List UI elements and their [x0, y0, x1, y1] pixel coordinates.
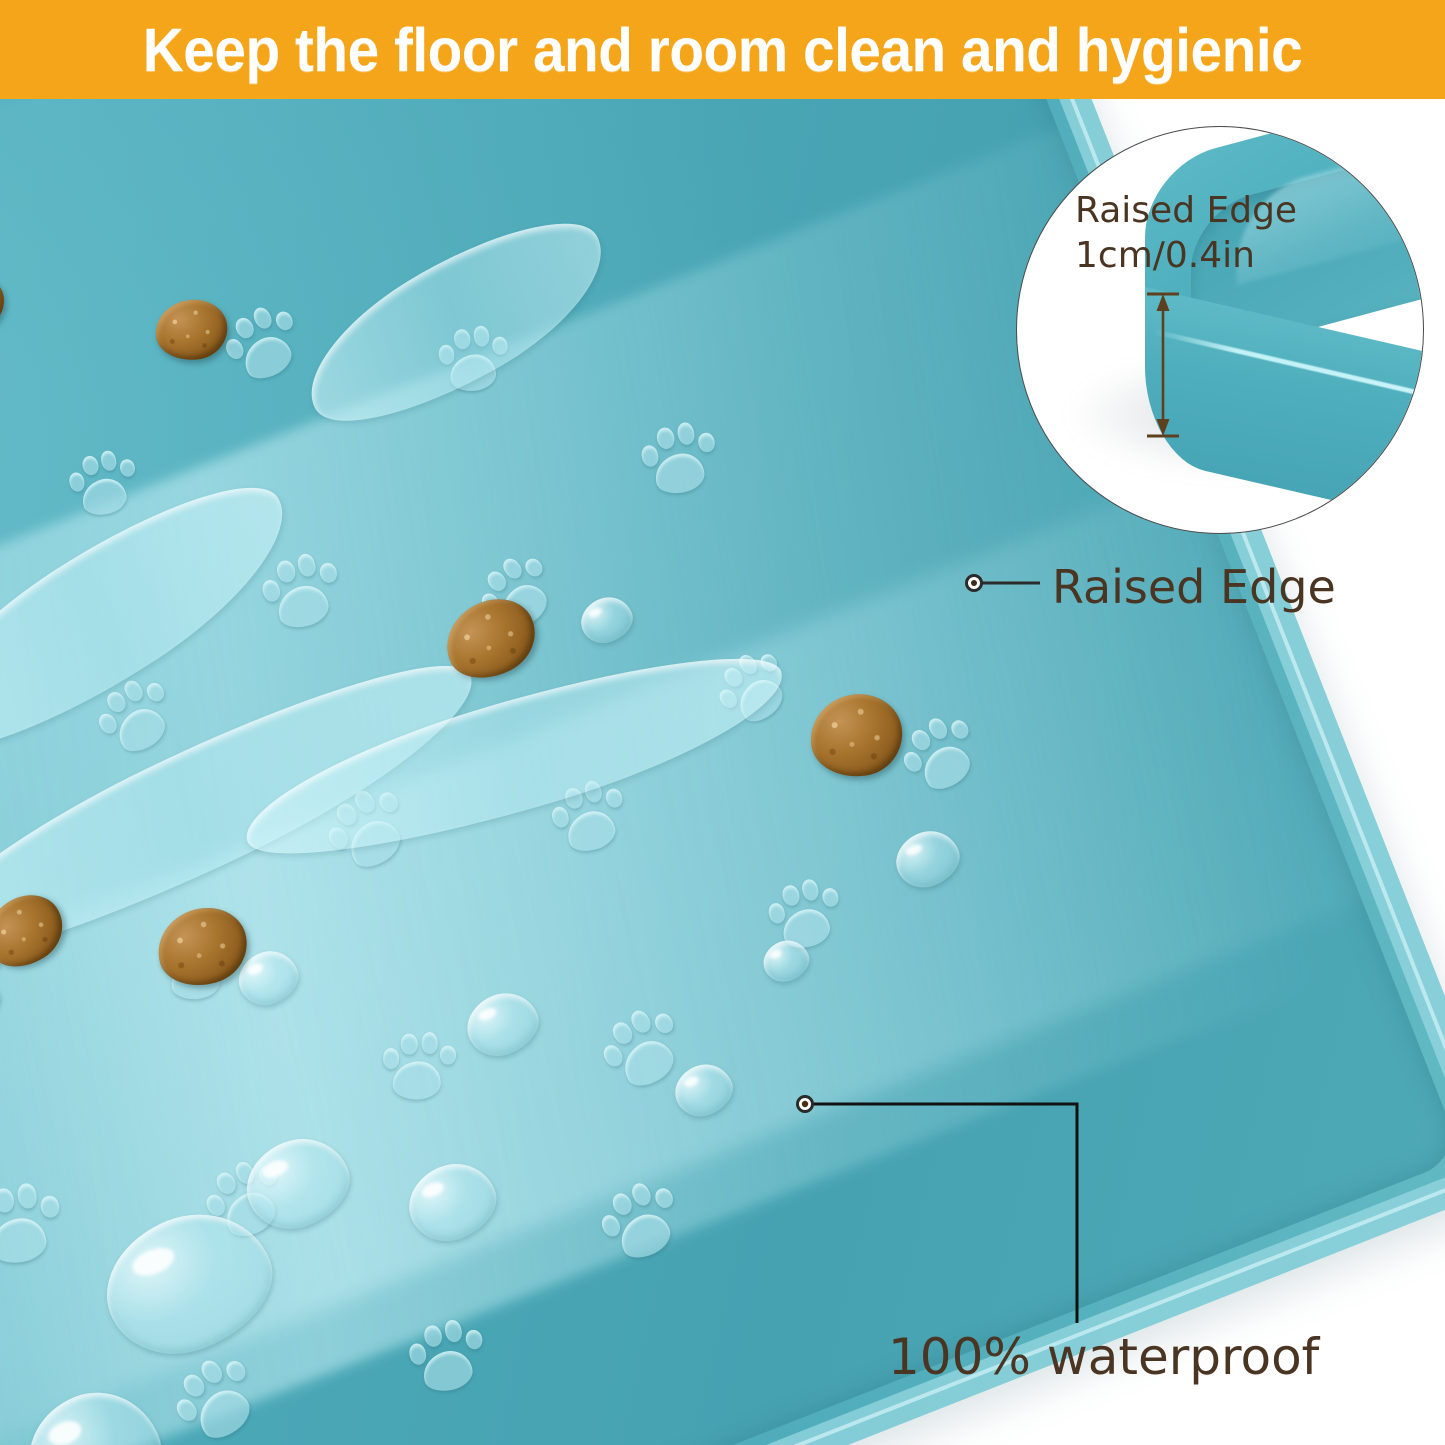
paw-print [380, 1026, 460, 1106]
dimension-arrow [1143, 291, 1183, 439]
magnifier-caption: Raised Edge1cm/0.4in [1075, 189, 1297, 278]
paw-print [634, 412, 728, 506]
paw-print [401, 1309, 496, 1404]
annotation-label-raised-edge: Raised Edge [1052, 560, 1336, 614]
headline-text: Keep the floor and room clean and hygien… [51, 0, 1395, 99]
kibble-piece [0, 270, 8, 336]
magnifier-title: Raised Edge [1075, 190, 1297, 231]
headline-banner: Keep the floor and room clean and hygien… [0, 0, 1445, 99]
corner-side-wall [1145, 287, 1424, 534]
magnifier-measurement: 1cm/0.4in [1075, 235, 1255, 276]
annotation-label-waterproof: 100% waterproof [888, 1328, 1319, 1386]
kibble-piece [153, 297, 230, 364]
paw-print [212, 291, 317, 396]
raised-edge-magnifier: Raised Edge1cm/0.4in [1016, 126, 1424, 534]
product-infographic: Keep the floor and room clean and hygien… [0, 0, 1445, 1445]
